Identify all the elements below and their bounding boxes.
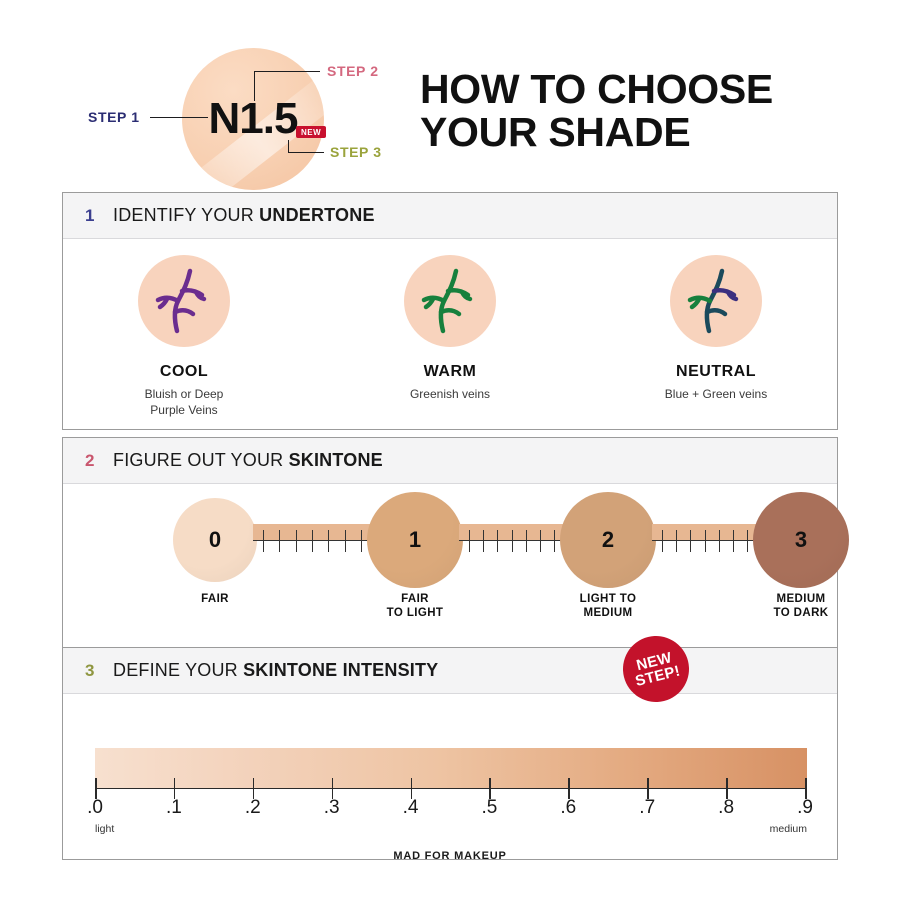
intensity-tick bbox=[332, 778, 334, 799]
ruler-segment-1 bbox=[459, 524, 564, 558]
ruler-tick bbox=[361, 530, 362, 552]
intensity-tick bbox=[95, 778, 97, 799]
skintone-circle-0: 0 bbox=[173, 498, 257, 582]
step-3-panel: 3 DEFINE YOUR SKINTONE INTENSITY NEW STE… bbox=[62, 647, 838, 860]
skintone-circle-2: 2 bbox=[560, 492, 656, 588]
ruler-tick bbox=[328, 530, 329, 552]
undertone-warm: WARM Greenish veins bbox=[360, 255, 540, 429]
ruler-tick bbox=[279, 530, 280, 552]
intensity-tick-label: .2 bbox=[245, 797, 261, 819]
neutral-desc: Blue + Green veins bbox=[626, 386, 806, 402]
ruler-tick bbox=[469, 530, 470, 552]
ruler-tick bbox=[705, 530, 706, 552]
ruler-tick bbox=[690, 530, 691, 552]
skintone-label-0: FAIR bbox=[150, 592, 280, 606]
leader-line-step3-horizontal bbox=[288, 152, 324, 153]
neutral-vein-circle bbox=[670, 255, 762, 347]
ruler-tick bbox=[296, 530, 297, 552]
skintone-label-2: LIGHT TO MEDIUM bbox=[543, 592, 673, 621]
skintone-circle-1: 1 bbox=[367, 492, 463, 588]
warm-name: WARM bbox=[360, 363, 540, 381]
undertone-neutral: NEUTRAL Blue + Green veins bbox=[626, 255, 806, 429]
cool-name: COOL bbox=[94, 363, 274, 381]
intensity-tick bbox=[568, 778, 570, 799]
step-2-header: 2 FIGURE OUT YOUR SKINTONE bbox=[63, 438, 837, 484]
intensity-tick-label: .0 bbox=[87, 797, 103, 819]
ruler-tick bbox=[312, 530, 313, 552]
step3-callout-label: STEP 3 bbox=[330, 144, 382, 160]
ruler-segment-0 bbox=[253, 524, 371, 558]
leader-line-step1 bbox=[150, 117, 208, 118]
intensity-tick bbox=[647, 778, 649, 799]
step1-callout-label: STEP 1 bbox=[88, 109, 140, 125]
step-1-panel: 1 IDENTIFY YOUR UNDERTONE bbox=[62, 192, 838, 430]
skintone-value: 1 bbox=[409, 527, 421, 553]
brand-footer: MAD FOR MAKEUP bbox=[0, 850, 900, 862]
step-1-title-bold: UNDERTONE bbox=[259, 205, 374, 225]
leader-line-step2-vertical bbox=[254, 71, 255, 101]
ruler-tick bbox=[540, 530, 541, 552]
intensity-tick bbox=[253, 778, 255, 799]
ruler-tick bbox=[733, 530, 734, 552]
ruler-tick bbox=[512, 530, 513, 552]
step-3-header: 3 DEFINE YOUR SKINTONE INTENSITY NEW STE… bbox=[63, 648, 837, 694]
step2-callout-label: STEP 2 bbox=[327, 63, 379, 79]
undertone-cool: COOL Bluish or Deep Purple Veins bbox=[94, 255, 274, 429]
ruler-tick bbox=[554, 530, 555, 552]
intensity-tick-label: .5 bbox=[482, 797, 498, 819]
hero-section: N1.5 NEW STEP 1 STEP 2 STEP 3 HOW TO CHO… bbox=[0, 0, 900, 190]
skintone-value: 0 bbox=[209, 527, 221, 553]
ruler-tick bbox=[719, 530, 720, 552]
ruler-tick bbox=[497, 530, 498, 552]
step-1-number: 1 bbox=[85, 206, 113, 226]
intensity-tick bbox=[174, 778, 176, 799]
warm-desc: Greenish veins bbox=[360, 386, 540, 402]
intensity-tick-label: .3 bbox=[324, 797, 340, 819]
intensity-left-label: light bbox=[95, 823, 114, 835]
skintone-circle-3: 3 bbox=[753, 492, 849, 588]
warm-vein-circle bbox=[404, 255, 496, 347]
headline-line-1: HOW TO CHOOSE bbox=[420, 68, 870, 111]
headline-line-2: YOUR SHADE bbox=[420, 111, 870, 154]
skintone-label-3: MEDIUM TO DARK bbox=[736, 592, 866, 621]
veins-icon bbox=[404, 255, 496, 347]
leader-line-step3-vertical bbox=[288, 140, 289, 153]
skintone-value: 3 bbox=[795, 527, 807, 553]
intensity-tick bbox=[489, 778, 491, 799]
skintone-scale: 0FAIR1FAIR TO LIGHT2LIGHT TO MEDIUM3MEDI… bbox=[63, 492, 837, 612]
ruler-segment-2 bbox=[652, 524, 757, 558]
step-3-number: 3 bbox=[85, 661, 113, 681]
step-2-title: FIGURE OUT YOUR SKINTONE bbox=[113, 450, 383, 471]
intensity-tick-label: .8 bbox=[718, 797, 734, 819]
new-chip-badge: NEW bbox=[296, 126, 326, 138]
step-1-body: COOL Bluish or Deep Purple Veins bbox=[63, 239, 837, 429]
page-title: HOW TO CHOOSE YOUR SHADE bbox=[420, 68, 870, 155]
step-3-title-bold: SKINTONE INTENSITY bbox=[243, 660, 438, 680]
intensity-gradient-bar bbox=[95, 748, 807, 788]
veins-icon bbox=[138, 255, 230, 347]
intensity-tick bbox=[805, 778, 807, 799]
step-3-title: DEFINE YOUR SKINTONE INTENSITY bbox=[113, 660, 438, 681]
step-1-title: IDENTIFY YOUR UNDERTONE bbox=[113, 205, 375, 226]
leader-line-step2-horizontal bbox=[254, 71, 320, 72]
intensity-tick-label: .4 bbox=[403, 797, 419, 819]
ruler-tick bbox=[747, 530, 748, 552]
step-3-body: .0.1.2.3.4.5.6.7.8.9 light medium bbox=[63, 694, 837, 859]
intensity-tick bbox=[726, 778, 728, 799]
intensity-end-labels: light medium bbox=[95, 823, 807, 839]
ruler-tick bbox=[676, 530, 677, 552]
cool-desc: Bluish or Deep Purple Veins bbox=[94, 386, 274, 418]
step-2-title-plain: FIGURE OUT YOUR bbox=[113, 450, 289, 470]
infographic-page: N1.5 NEW STEP 1 STEP 2 STEP 3 HOW TO CHO… bbox=[0, 0, 900, 900]
ruler-tick bbox=[662, 530, 663, 552]
ruler-tick bbox=[345, 530, 346, 552]
intensity-tick-labels: .0.1.2.3.4.5.6.7.8.9 bbox=[95, 797, 807, 823]
neutral-name: NEUTRAL bbox=[626, 363, 806, 381]
intensity-tick-label: .1 bbox=[166, 797, 182, 819]
intensity-right-label: medium bbox=[770, 823, 807, 835]
intensity-axis bbox=[95, 788, 807, 789]
step-2-number: 2 bbox=[85, 451, 113, 471]
intensity-tick-label: .6 bbox=[560, 797, 576, 819]
intensity-tick-label: .7 bbox=[639, 797, 655, 819]
shade-code-label: N1.5 bbox=[182, 48, 324, 190]
intensity-scale: .0.1.2.3.4.5.6.7.8.9 light medium bbox=[95, 748, 807, 839]
step-1-header: 1 IDENTIFY YOUR UNDERTONE bbox=[63, 193, 837, 239]
step-1-title-plain: IDENTIFY YOUR bbox=[113, 205, 259, 225]
skintone-value: 2 bbox=[602, 527, 614, 553]
ruler-tick bbox=[483, 530, 484, 552]
step-2-title-bold: SKINTONE bbox=[289, 450, 383, 470]
step-3-title-plain: DEFINE YOUR bbox=[113, 660, 243, 680]
intensity-tick bbox=[411, 778, 413, 799]
veins-icon bbox=[670, 255, 762, 347]
ruler-tick bbox=[526, 530, 527, 552]
skintone-label-1: FAIR TO LIGHT bbox=[350, 592, 480, 621]
intensity-tick-label: .9 bbox=[797, 797, 813, 819]
ruler-tick bbox=[263, 530, 264, 552]
cool-vein-circle bbox=[138, 255, 230, 347]
